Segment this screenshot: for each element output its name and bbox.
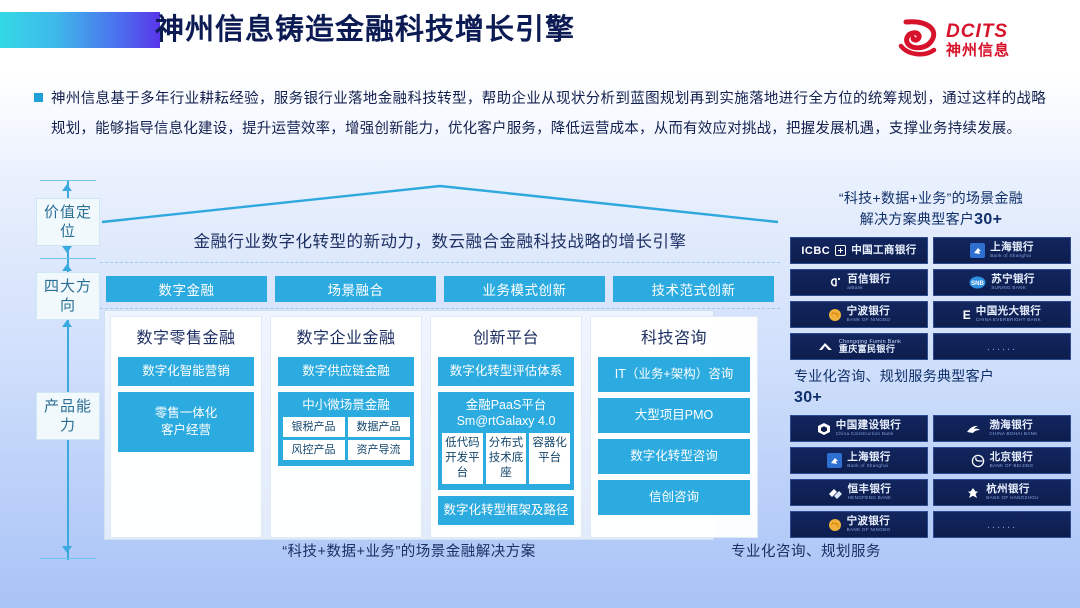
column-title-enterprise: 数字企业金融 — [278, 323, 414, 351]
bohai-cn: 渤海银行 — [989, 420, 1037, 431]
svg-text:神州信息: 神州信息 — [946, 41, 1010, 59]
hangzhou-icon — [965, 487, 981, 499]
capability-block-retail-integration-line1: 零售一体化 — [155, 406, 218, 420]
customer-logo-grid-1: ICBC 中国工商银行 上海银行 Bank of Shanghai 百信银行 — [790, 237, 1072, 360]
ellipsis-icon-1: ...... — [987, 341, 1017, 353]
icbc-cn: 中国工商银行 — [851, 245, 916, 256]
page-header: 神州信息铸造金融科技增长引擎 DCITS 神州信息 — [0, 0, 1080, 72]
beijing-ring-icon — [971, 454, 985, 468]
column-title-consulting: 科技咨询 — [598, 323, 750, 351]
capability-column-consulting: 科技咨询 IT（业务+架构）咨询 大型项目PMO 数字化转型咨询 信创咨询 — [590, 316, 758, 538]
beijing-en: BANK OF BEIJING — [990, 464, 1034, 469]
axis-tick-1 — [40, 258, 96, 259]
group-title-paas: 金融PaaS平台 Sm@rtGalaxy 4.0 — [442, 397, 570, 433]
group-title-sme: 中小微场景金融 — [282, 397, 410, 417]
logo-cell-suning-bank[interactable]: SNB 苏宁银行 SUNING BANK — [933, 269, 1071, 296]
direction-tag-1[interactable]: 场景融合 — [275, 276, 436, 302]
value-axis: 价值定位 四大方向 产品能力 — [40, 180, 96, 560]
capability-block-supply-chain[interactable]: 数字供应链金融 — [278, 357, 414, 386]
direction-tag-3[interactable]: 技术范式创新 — [613, 276, 774, 302]
suning-label: 苏宁银行 SUNING BANK — [991, 274, 1035, 291]
ningbo-cn-1: 宁波银行 — [847, 306, 891, 317]
icbc-wordmark-icon: ICBC — [801, 245, 830, 257]
ningbo-ball-icon — [828, 308, 842, 322]
logo-cell-bank-of-beijing[interactable]: 北京银行 BANK OF BEIJING — [933, 447, 1071, 474]
hengfeng-icon — [827, 486, 843, 500]
intro-paragraph: 神州信息基于多年行业耕耘经验，服务银行业落地金融科技转型，帮助企业从现状分析到蓝… — [34, 84, 1046, 144]
ningbo-label-1: 宁波银行 BANK OF NINGBO — [847, 306, 891, 323]
aibank-label: 百信银行 aiBank — [847, 274, 891, 291]
logo-cell-bank-of-ningbo-2[interactable]: 宁波银行 BANK OF NINGBO — [790, 511, 928, 538]
aibank-en: aiBank — [847, 286, 891, 291]
paas-chip-2[interactable]: 容器化平台 — [529, 433, 570, 484]
sme-chip-3[interactable]: 资产导流 — [348, 440, 410, 460]
capability-column-enterprise: 数字企业金融 数字供应链金融 中小微场景金融 银税产品 数据产品 风控产品 资产… — [270, 316, 422, 538]
customers-section1-line2: 解决方案典型客户 — [860, 211, 974, 227]
roof-graphic — [100, 182, 780, 228]
fumin-chevron-icon — [817, 340, 834, 353]
customers-section1-count: 30+ — [974, 211, 1002, 228]
intro-text: 神州信息基于多年行业耕耘经验，服务银行业落地金融科技转型，帮助企业从现状分析到蓝… — [51, 84, 1046, 144]
everbright-label: 中国光大银行 CHINA EVERBRIGHT BANK — [976, 306, 1041, 323]
icbc-label: 中国工商银行 — [851, 245, 916, 256]
everbright-en: CHINA EVERBRIGHT BANK — [976, 318, 1041, 323]
customers-section2-heading: 专业化咨询、规划服务典型客户 30+ — [790, 360, 1072, 415]
hengfeng-label: 恒丰银行 HENGFENG BANK — [848, 484, 892, 501]
axis-arrow-up-3 — [62, 320, 72, 327]
customers-section2-line1: 专业化咨询、规划服务典型客户 — [794, 368, 994, 384]
everbright-ebank-icon: E — [963, 308, 971, 322]
paas-title-line1: 金融PaaS平台 — [466, 398, 547, 412]
customers-section1-heading: “科技+数据+业务”的场景金融 解决方案典型客户30+ — [790, 182, 1072, 237]
shanghai-en-1: Bank of Shanghai — [990, 254, 1034, 259]
logo-cell-bank-of-shanghai-2[interactable]: 上海银行 Bank of Shanghai — [790, 447, 928, 474]
dcits-logo: DCITS 神州信息 — [896, 16, 1046, 60]
ccb-icon — [817, 422, 831, 436]
logo-cell-bank-of-hangzhou[interactable]: 杭州银行 BANK OF HANGZHOU — [933, 479, 1071, 506]
aibank-alpha-icon — [827, 275, 842, 290]
capability-block-transformation-framework[interactable]: 数字化转型框架及路径 — [438, 496, 574, 525]
four-directions-row: 数字金融 场景融合 业务模式创新 技术范式创新 — [106, 276, 774, 302]
logo-cell-hengfeng-bank[interactable]: 恒丰银行 HENGFENG BANK — [790, 479, 928, 506]
direction-tag-2[interactable]: 业务模式创新 — [444, 276, 605, 302]
customers-panel: “科技+数据+业务”的场景金融 解决方案典型客户30+ ICBC 中国工商银行 … — [790, 182, 1072, 562]
logo-cell-bank-of-shanghai-1[interactable]: 上海银行 Bank of Shanghai — [933, 237, 1071, 264]
axis-label-text-2: 产品能力 — [44, 398, 92, 434]
divider-bottom — [100, 308, 780, 309]
fumin-label: Chongqing Fumin Bank 重庆富民银行 — [839, 339, 901, 355]
ningbo-cn-2: 宁波银行 — [847, 516, 891, 527]
axis-label-product-capability: 产品能力 — [36, 392, 100, 440]
axis-arrow-up-1 — [62, 184, 72, 191]
svg-text:SNB: SNB — [971, 281, 984, 287]
ccb-cn: 中国建设银行 — [836, 420, 901, 431]
bohai-en: CHINA BOHAI BANK — [989, 432, 1037, 437]
beijing-label: 北京银行 BANK OF BEIJING — [990, 452, 1034, 469]
capability-block-retail-integration-line2: 客户经营 — [161, 423, 211, 437]
paas-chip-1[interactable]: 分布式技术底座 — [486, 433, 527, 484]
dcits-swirl-icon — [901, 22, 934, 54]
logo-cell-fumin-bank[interactable]: Chongqing Fumin Bank 重庆富民银行 — [790, 333, 928, 360]
axis-arrow-up-2 — [62, 264, 72, 271]
axis-tick-bottom — [40, 558, 96, 559]
capability-group-paas: 金融PaaS平台 Sm@rtGalaxy 4.0 低代码开发平台 分布式技术底座… — [438, 392, 574, 490]
axis-label-text-0: 价值定位 — [44, 204, 92, 240]
customers-section1-line1: “科技+数据+业务”的场景金融 — [839, 190, 1023, 206]
shanghai-cn-1: 上海银行 — [990, 242, 1034, 253]
suning-cn: 苏宁银行 — [991, 274, 1035, 285]
axis-arrow-down-3 — [62, 546, 72, 553]
consulting-block-pmo[interactable]: 大型项目PMO — [598, 398, 750, 433]
consulting-block-digital[interactable]: 数字化转型咨询 — [598, 439, 750, 474]
logo-cell-ccb[interactable]: 中国建设银行 China Construction Bank — [790, 415, 928, 442]
column-title-innovation: 创新平台 — [438, 323, 574, 351]
divider-top — [100, 262, 780, 263]
suning-en: SUNING BANK — [991, 286, 1035, 291]
direction-tag-0[interactable]: 数字金融 — [106, 276, 267, 302]
hangzhou-label: 杭州银行 BANK OF HANGZHOU — [986, 484, 1039, 501]
hangzhou-cn: 杭州银行 — [986, 484, 1039, 495]
header-accent-bar — [0, 12, 160, 48]
capability-columns: 数字零售金融 数字化智能营销 零售一体化 客户经营 数字企业金融 数字供应链金融… — [110, 316, 890, 538]
ellipsis-icon-2: ...... — [987, 519, 1017, 531]
axis-tick-top — [40, 180, 96, 181]
shanghai-label-1: 上海银行 Bank of Shanghai — [990, 242, 1034, 259]
logo-cell-icbc[interactable]: ICBC 中国工商银行 — [790, 237, 928, 264]
logo-cell-bohai-bank[interactable]: 渤海银行 CHINA BOHAI BANK — [933, 415, 1071, 442]
axis-label-four-directions: 四大方向 — [36, 272, 100, 320]
axis-label-value-position: 价值定位 — [36, 198, 100, 246]
bohai-wing-icon — [966, 423, 984, 435]
ningbo-label-2: 宁波银行 BANK OF NINGBO — [847, 516, 891, 533]
logo-cell-more-2[interactable]: ...... — [933, 511, 1071, 538]
capability-column-innovation: 创新平台 数字化转型评估体系 金融PaaS平台 Sm@rtGalaxy 4.0 … — [430, 316, 582, 538]
bohai-label: 渤海银行 CHINA BOHAI BANK — [989, 420, 1037, 437]
axis-label-text-1: 四大方向 — [44, 278, 92, 314]
shanghai-label-2: 上海银行 Bank of Shanghai — [847, 452, 891, 469]
ningbo-en-2: BANK OF NINGBO — [847, 528, 891, 533]
framework-tagline: 金融行业数字化转型的新动力，数云融合金融科技战略的增长引擎 — [100, 228, 780, 252]
ccb-label: 中国建设银行 China Construction Bank — [836, 420, 901, 437]
hangzhou-en: BANK OF HANGZHOU — [986, 496, 1039, 501]
column-title-retail: 数字零售金融 — [118, 323, 254, 351]
everbright-cn: 中国光大银行 — [976, 306, 1041, 317]
capability-block-smart-marketing[interactable]: 数字化智能营销 — [118, 357, 254, 386]
icbc-seal-icon — [835, 245, 846, 256]
caption-solution: “科技+数据+业务”的场景金融解决方案 — [104, 540, 714, 561]
hengfeng-cn: 恒丰银行 — [848, 484, 892, 495]
ningbo-en-1: BANK OF NINGBO — [847, 318, 891, 323]
shanghai-arrow-icon — [970, 243, 985, 258]
suning-snb-icon: SNB — [969, 276, 986, 289]
customers-section2-count: 30+ — [794, 389, 822, 406]
sme-chip-list: 银税产品 数据产品 风控产品 资产导流 — [282, 417, 410, 460]
paas-chip-0[interactable]: 低代码开发平台 — [442, 433, 483, 484]
logo-cell-everbright[interactable]: E 中国光大银行 CHINA EVERBRIGHT BANK — [933, 301, 1071, 328]
logo-cell-aibank[interactable]: 百信银行 aiBank — [790, 269, 928, 296]
paas-chip-list: 低代码开发平台 分布式技术底座 容器化平台 — [442, 433, 570, 484]
sme-chip-2[interactable]: 风控产品 — [283, 440, 345, 460]
capability-block-retail-integration[interactable]: 零售一体化 客户经营 — [118, 392, 254, 452]
shanghai-en-2: Bank of Shanghai — [847, 464, 891, 469]
capability-column-retail: 数字零售金融 数字化智能营销 零售一体化 客户经营 — [110, 316, 262, 538]
bullet-icon — [34, 93, 43, 102]
sme-chip-1[interactable]: 数据产品 — [348, 417, 410, 437]
sme-chip-0[interactable]: 银税产品 — [283, 417, 345, 437]
consulting-block-it[interactable]: IT（业务+架构）咨询 — [598, 357, 750, 392]
shanghai-cn-2: 上海银行 — [847, 452, 891, 463]
fumin-cn: 重庆富民银行 — [839, 345, 901, 354]
shanghai-arrow-icon-2 — [827, 453, 842, 468]
ningbo-ball-icon-2 — [828, 518, 842, 532]
capability-block-assessment-system[interactable]: 数字化转型评估体系 — [438, 357, 574, 386]
page-title: 神州信息铸造金融科技增长引擎 — [155, 10, 575, 50]
logo-cell-bank-of-ningbo-1[interactable]: 宁波银行 BANK OF NINGBO — [790, 301, 928, 328]
aibank-cn: 百信银行 — [847, 274, 891, 285]
axis-arrow-down-1 — [62, 246, 72, 253]
logo-cell-more-1[interactable]: ...... — [933, 333, 1071, 360]
paas-title-line2: Sm@rtGalaxy 4.0 — [457, 414, 556, 428]
capability-group-sme-scenario: 中小微场景金融 银税产品 数据产品 风控产品 资产导流 — [278, 392, 414, 466]
framework-stage: 金融行业数字化转型的新动力，数云融合金融科技战略的增长引擎 数字金融 场景融合 … — [100, 182, 780, 562]
svg-text:DCITS: DCITS — [946, 21, 1008, 42]
customer-logo-grid-2: 中国建设银行 China Construction Bank 渤海银行 CHIN… — [790, 415, 1072, 538]
consulting-block-xinchuang[interactable]: 信创咨询 — [598, 480, 750, 515]
beijing-cn: 北京银行 — [990, 452, 1034, 463]
hengfeng-en: HENGFENG BANK — [848, 496, 892, 501]
ccb-en: China Construction Bank — [836, 432, 901, 437]
